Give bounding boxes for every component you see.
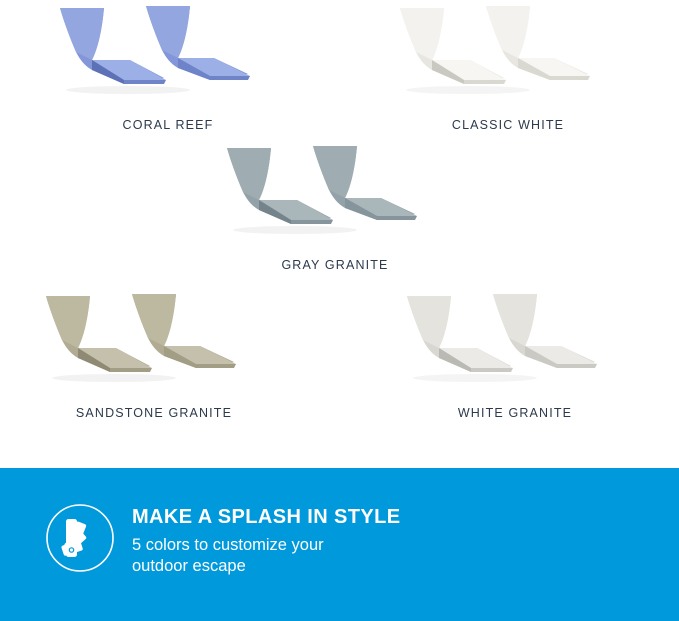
chaise-lounge-pair-illustration xyxy=(24,290,284,400)
swatch-label: GRAY GRANITE xyxy=(281,258,388,272)
swatch-label: WHITE GRANITE xyxy=(458,406,572,420)
chaise-lounge-pair-illustration xyxy=(38,2,298,112)
swatch-label: CLASSIC WHITE xyxy=(452,118,564,132)
color-swatch-gray-granite[interactable]: GRAY GRANITE xyxy=(205,142,465,272)
banner-headline: MAKE A SPLASH IN STYLE xyxy=(132,506,442,528)
color-swatch-coral-reef[interactable]: CORAL REEF xyxy=(38,2,298,132)
color-swatch-grid: CORAL REEF xyxy=(0,0,679,468)
swatch-label: CORAL REEF xyxy=(123,118,214,132)
color-swatch-sandstone-granite[interactable]: SANDSTONE GRANITE xyxy=(24,290,284,420)
color-swatch-white-granite[interactable]: WHITE GRANITE xyxy=(385,290,645,420)
chaise-lounge-pair-illustration xyxy=(385,290,645,400)
promo-banner: MAKE A SPLASH IN STYLE 5 colors to custo… xyxy=(0,468,679,621)
chaise-lounge-pair-illustration xyxy=(378,2,638,112)
banner-subtext: 5 colors to customize your outdoor escap… xyxy=(132,535,442,577)
color-swatch-fan-icon xyxy=(44,502,116,574)
swatch-label: SANDSTONE GRANITE xyxy=(76,406,232,420)
banner-subline-2: outdoor escape xyxy=(132,556,442,577)
product-color-options-image: CORAL REEF xyxy=(0,0,679,621)
banner-copy: MAKE A SPLASH IN STYLE 5 colors to custo… xyxy=(132,506,442,577)
color-swatch-classic-white[interactable]: CLASSIC WHITE xyxy=(378,2,638,132)
banner-subline-1: 5 colors to customize your xyxy=(132,535,442,556)
chaise-lounge-pair-illustration xyxy=(205,142,465,252)
